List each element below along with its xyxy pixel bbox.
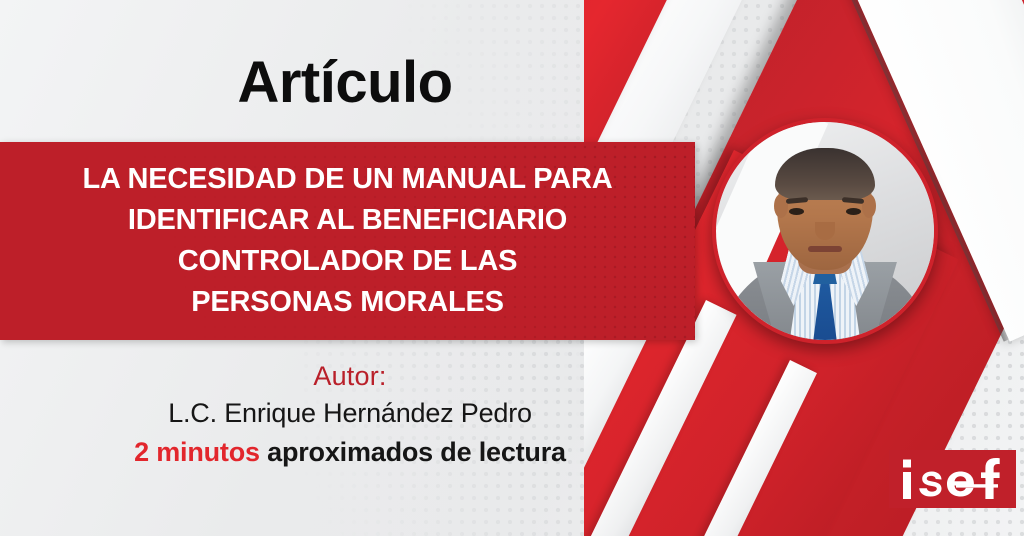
- reading-time: 2 minutos aproximados de lectura: [0, 432, 700, 472]
- isef-logo[interactable]: [889, 450, 1016, 508]
- article-promo-poster: Artículo LA NECESIDAD DE UN MANUAL PARA …: [0, 0, 1024, 536]
- portrait-eye-left: [789, 208, 804, 215]
- author-block: Autor: L.C. Enrique Hernández Pedro 2 mi…: [0, 358, 700, 472]
- author-label: Autor:: [0, 358, 700, 394]
- isef-logotype-icon: [901, 456, 1005, 502]
- author-portrait: [712, 118, 938, 344]
- portrait-eye-right: [846, 208, 861, 215]
- title-line-4: PERSONAS MORALES: [191, 282, 504, 323]
- portrait-mouth: [808, 246, 842, 252]
- reading-time-suffix: aproximados de lectura: [260, 437, 566, 467]
- title-line-3: CONTROLADOR DE LAS: [178, 241, 518, 282]
- title-banner: LA NECESIDAD DE UN MANUAL PARA IDENTIFIC…: [0, 142, 695, 340]
- title-line-1: LA NECESIDAD DE UN MANUAL PARA: [83, 159, 613, 200]
- author-name: L.C. Enrique Hernández Pedro: [0, 394, 700, 432]
- reading-time-minutes: 2 minutos: [134, 437, 260, 467]
- title-line-2: IDENTIFICAR AL BENEFICIARIO: [128, 200, 567, 241]
- portrait-ear-right: [862, 194, 876, 218]
- page-kicker: Artículo: [0, 54, 690, 112]
- author-portrait-image: [716, 122, 934, 340]
